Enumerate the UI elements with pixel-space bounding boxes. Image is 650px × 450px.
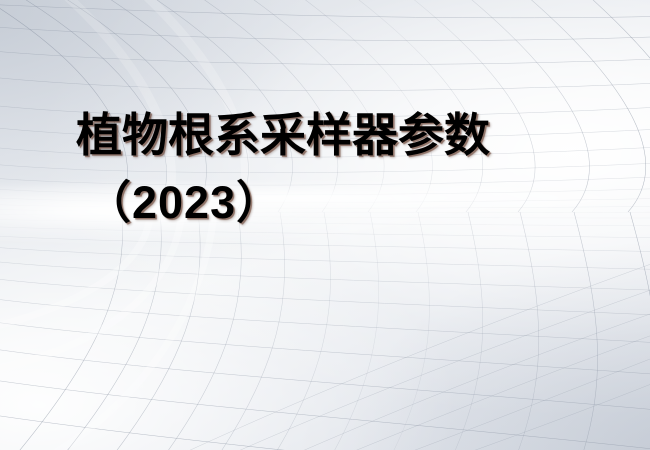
title-slide: 植物根系采样器参数 （2023） xyxy=(0,0,650,450)
slide-title-line-1: 植物根系采样器参数 xyxy=(76,112,650,158)
slide-title-line-2: （2023） xyxy=(86,180,650,225)
slide-title-block: 植物根系采样器参数 （2023） xyxy=(0,112,650,225)
